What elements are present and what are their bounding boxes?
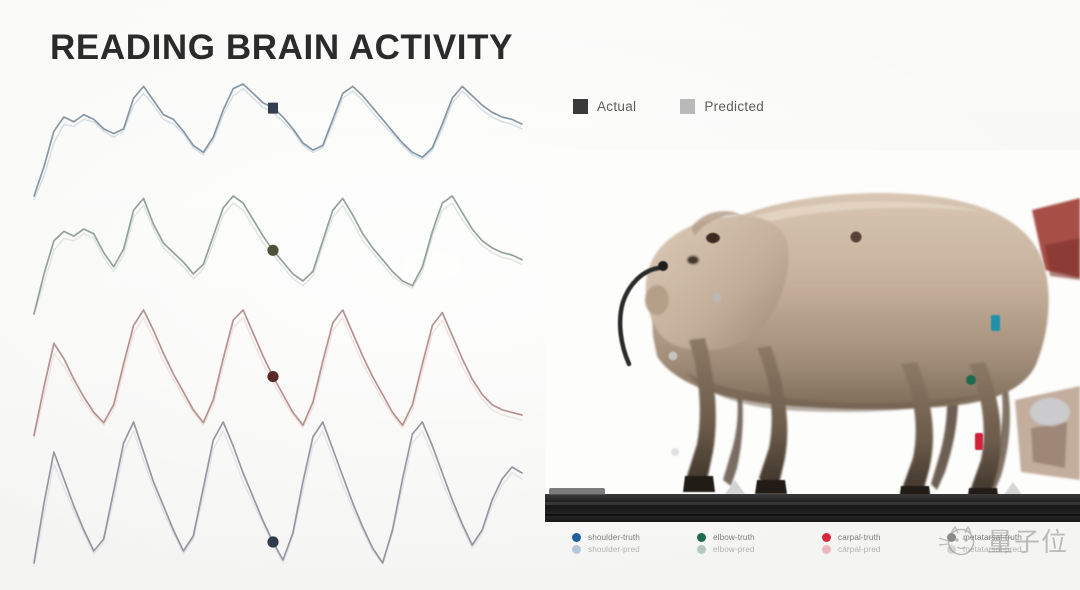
- shoulder-pred-dot-icon: [572, 545, 581, 554]
- trace-shoulder-truth: [34, 84, 522, 196]
- trace-elbow-truth: [34, 196, 522, 314]
- page-title: READING BRAIN ACTIVITY: [50, 28, 513, 68]
- watermark: 量子位: [937, 522, 1068, 559]
- legend-row-carpal-truth: carpal-truth: [822, 533, 947, 542]
- pig-illustration-svg: [545, 150, 1080, 522]
- carpal-pred-label: carpal-pred: [838, 545, 881, 554]
- elbow-pred-dot-icon: [697, 545, 706, 554]
- hoof-marker: [671, 448, 679, 456]
- elbow-truth-label: elbow-truth: [713, 533, 755, 542]
- shoulder-marker: [991, 315, 1000, 331]
- elbow-truth-dot-icon: [697, 533, 706, 542]
- elbow-pred-label: elbow-pred: [713, 545, 755, 554]
- legend-row-shoulder-pred: shoulder-pred: [572, 545, 697, 554]
- dorsal-marker-2: [708, 233, 718, 243]
- carpal-truth-label: carpal-truth: [838, 533, 881, 542]
- legend-label-actual: Actual: [597, 99, 636, 114]
- marker-carpal-truth: [267, 371, 278, 382]
- screenshot-root: READING BRAIN ACTIVITY Actual Predicted: [0, 0, 1080, 590]
- shoulder-pred-label: shoulder-pred: [588, 545, 640, 554]
- shoulder-truth-dot-icon: [572, 533, 581, 542]
- dorsal-marker-1: [851, 232, 862, 243]
- marker-shoulder-truth: [268, 103, 278, 114]
- trace-carpal-truth: [34, 310, 522, 435]
- brain-activity-trace-chart: [10, 70, 540, 590]
- watermark-text: 量子位: [987, 522, 1068, 559]
- legend-row-elbow-pred: elbow-pred: [697, 545, 822, 554]
- legend-row-carpal-pred: carpal-pred: [822, 545, 947, 554]
- legend-label-predicted: Predicted: [704, 99, 764, 114]
- legend-column-shoulder: shoulder-truth shoulder-pred: [572, 533, 697, 579]
- metatarsal-marker: [669, 352, 678, 361]
- shoulder-truth-label: shoulder-truth: [588, 533, 640, 542]
- body-marker-light: [713, 294, 722, 303]
- carpal-pred-dot-icon: [822, 545, 831, 554]
- legend-item-predicted: Predicted: [680, 99, 764, 114]
- legend-row-shoulder-truth: shoulder-truth: [572, 533, 697, 542]
- qbitai-cat-logo-icon: [937, 524, 981, 558]
- handler-arm: [1015, 386, 1080, 480]
- actual-predicted-legend: Actual Predicted: [573, 99, 764, 114]
- carpal-truth-dot-icon: [822, 533, 831, 542]
- legend-row-elbow-truth: elbow-truth: [697, 533, 822, 542]
- carpal-marker: [975, 433, 983, 450]
- marker-metatarsal-truth: [267, 536, 278, 547]
- pig-treadmill-video-frame: [545, 150, 1080, 522]
- filled-square-icon: [680, 99, 695, 114]
- trace-metatarsal-pred: [34, 431, 522, 566]
- legend-column-elbow: elbow-truth elbow-pred: [697, 533, 822, 579]
- elbow-marker: [966, 375, 976, 385]
- filled-square-icon: [573, 99, 588, 114]
- marker-elbow-truth: [267, 245, 278, 256]
- legend-column-carpal: carpal-truth carpal-pred: [822, 533, 947, 579]
- trace-plot-svg: [10, 70, 540, 590]
- legend-item-actual: Actual: [573, 99, 636, 114]
